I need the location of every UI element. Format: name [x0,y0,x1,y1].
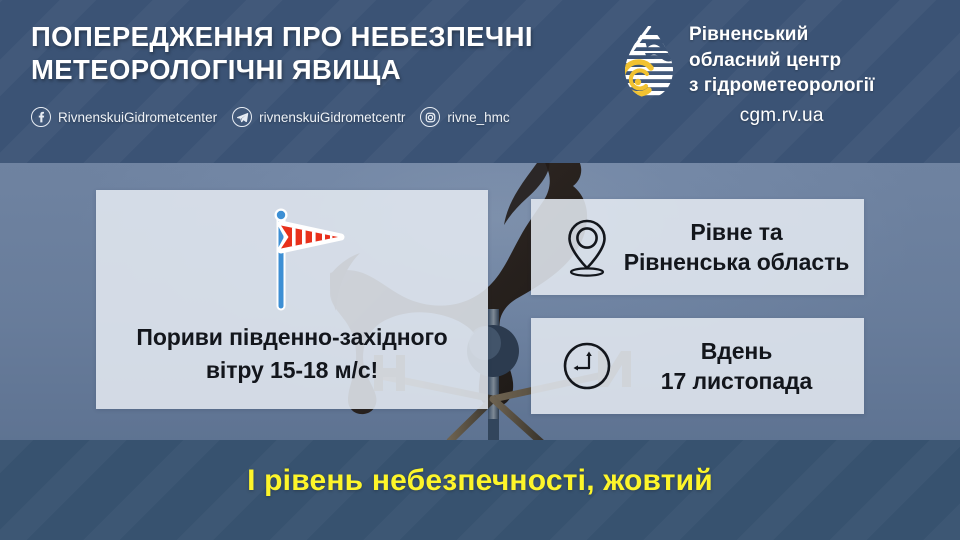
location-text: Рівне та Рівненська область [619,217,864,277]
title-line-2: МЕТЕОРОЛОГІЧНІ ЯВИЩА [31,53,621,86]
wind-text-line-2: вітру 15-18 м/с! [96,354,488,387]
instagram-icon [420,107,440,127]
raindrop-logo-icon [621,22,677,100]
social-link-facebook[interactable]: RivnenskuiGidrometcenter [31,107,217,127]
clock-icon [555,339,619,393]
instagram-handle: rivne_hmc [447,110,509,125]
organization-logo: Рівненський обласний центр з гідрометеор… [621,22,874,127]
location-card: Рівне та Рівненська область [531,199,864,295]
social-link-telegram[interactable]: rivnenskuiGidrometcentr [232,107,405,127]
location-pin-icon [555,216,619,278]
date-text: Вдень 17 листопада [619,336,864,396]
social-link-instagram[interactable]: rivne_hmc [420,107,509,127]
page-title: ПОПЕРЕДЖЕННЯ ПРО НЕБЕЗПЕЧНІ МЕТЕОРОЛОГІЧ… [31,20,621,86]
warning-level-text: I рівень небезпечності, жовтий [0,464,960,498]
telegram-handle: rivnenskuiGidrometcentr [259,110,405,125]
logo-line-3: з гідрометеорології [689,73,874,99]
location-line-1: Рівне та [619,217,854,247]
wind-warning-text: Пориви південно-західного вітру 15-18 м/… [96,321,488,387]
footer-banner: I рівень небезпечності, жовтий [0,440,960,540]
wind-text-line-1: Пориви південно-західного [96,321,488,354]
weather-warning-poster: ПОПЕРЕДЖЕННЯ ПРО НЕБЕЗПЕЧНІ МЕТЕОРОЛОГІЧ… [0,0,960,540]
logo-line-2: обласний центр [689,48,874,74]
location-line-2: Рівненська область [619,247,854,277]
organization-name: Рівненський обласний центр з гідрометеор… [689,22,874,127]
wind-warning-card: Пориви південно-західного вітру 15-18 м/… [96,190,488,409]
title-line-1: ПОПЕРЕДЖЕННЯ ПРО НЕБЕЗПЕЧНІ [31,20,621,53]
date-line-2: 17 листопада [619,366,854,396]
header-banner: ПОПЕРЕДЖЕННЯ ПРО НЕБЕЗПЕЧНІ МЕТЕОРОЛОГІЧ… [0,0,960,163]
logo-line-1: Рівненський [689,22,874,48]
wind-pennant-icon [264,204,374,314]
facebook-handle: RivnenskuiGidrometcenter [58,110,217,125]
facebook-icon [31,107,51,127]
telegram-icon [232,107,252,127]
date-line-1: Вдень [619,336,854,366]
date-card: Вдень 17 листопада [531,318,864,414]
social-links: RivnenskuiGidrometcenter rivnenskuiGidro… [31,107,525,127]
website-url[interactable]: cgm.rv.ua [689,105,874,127]
